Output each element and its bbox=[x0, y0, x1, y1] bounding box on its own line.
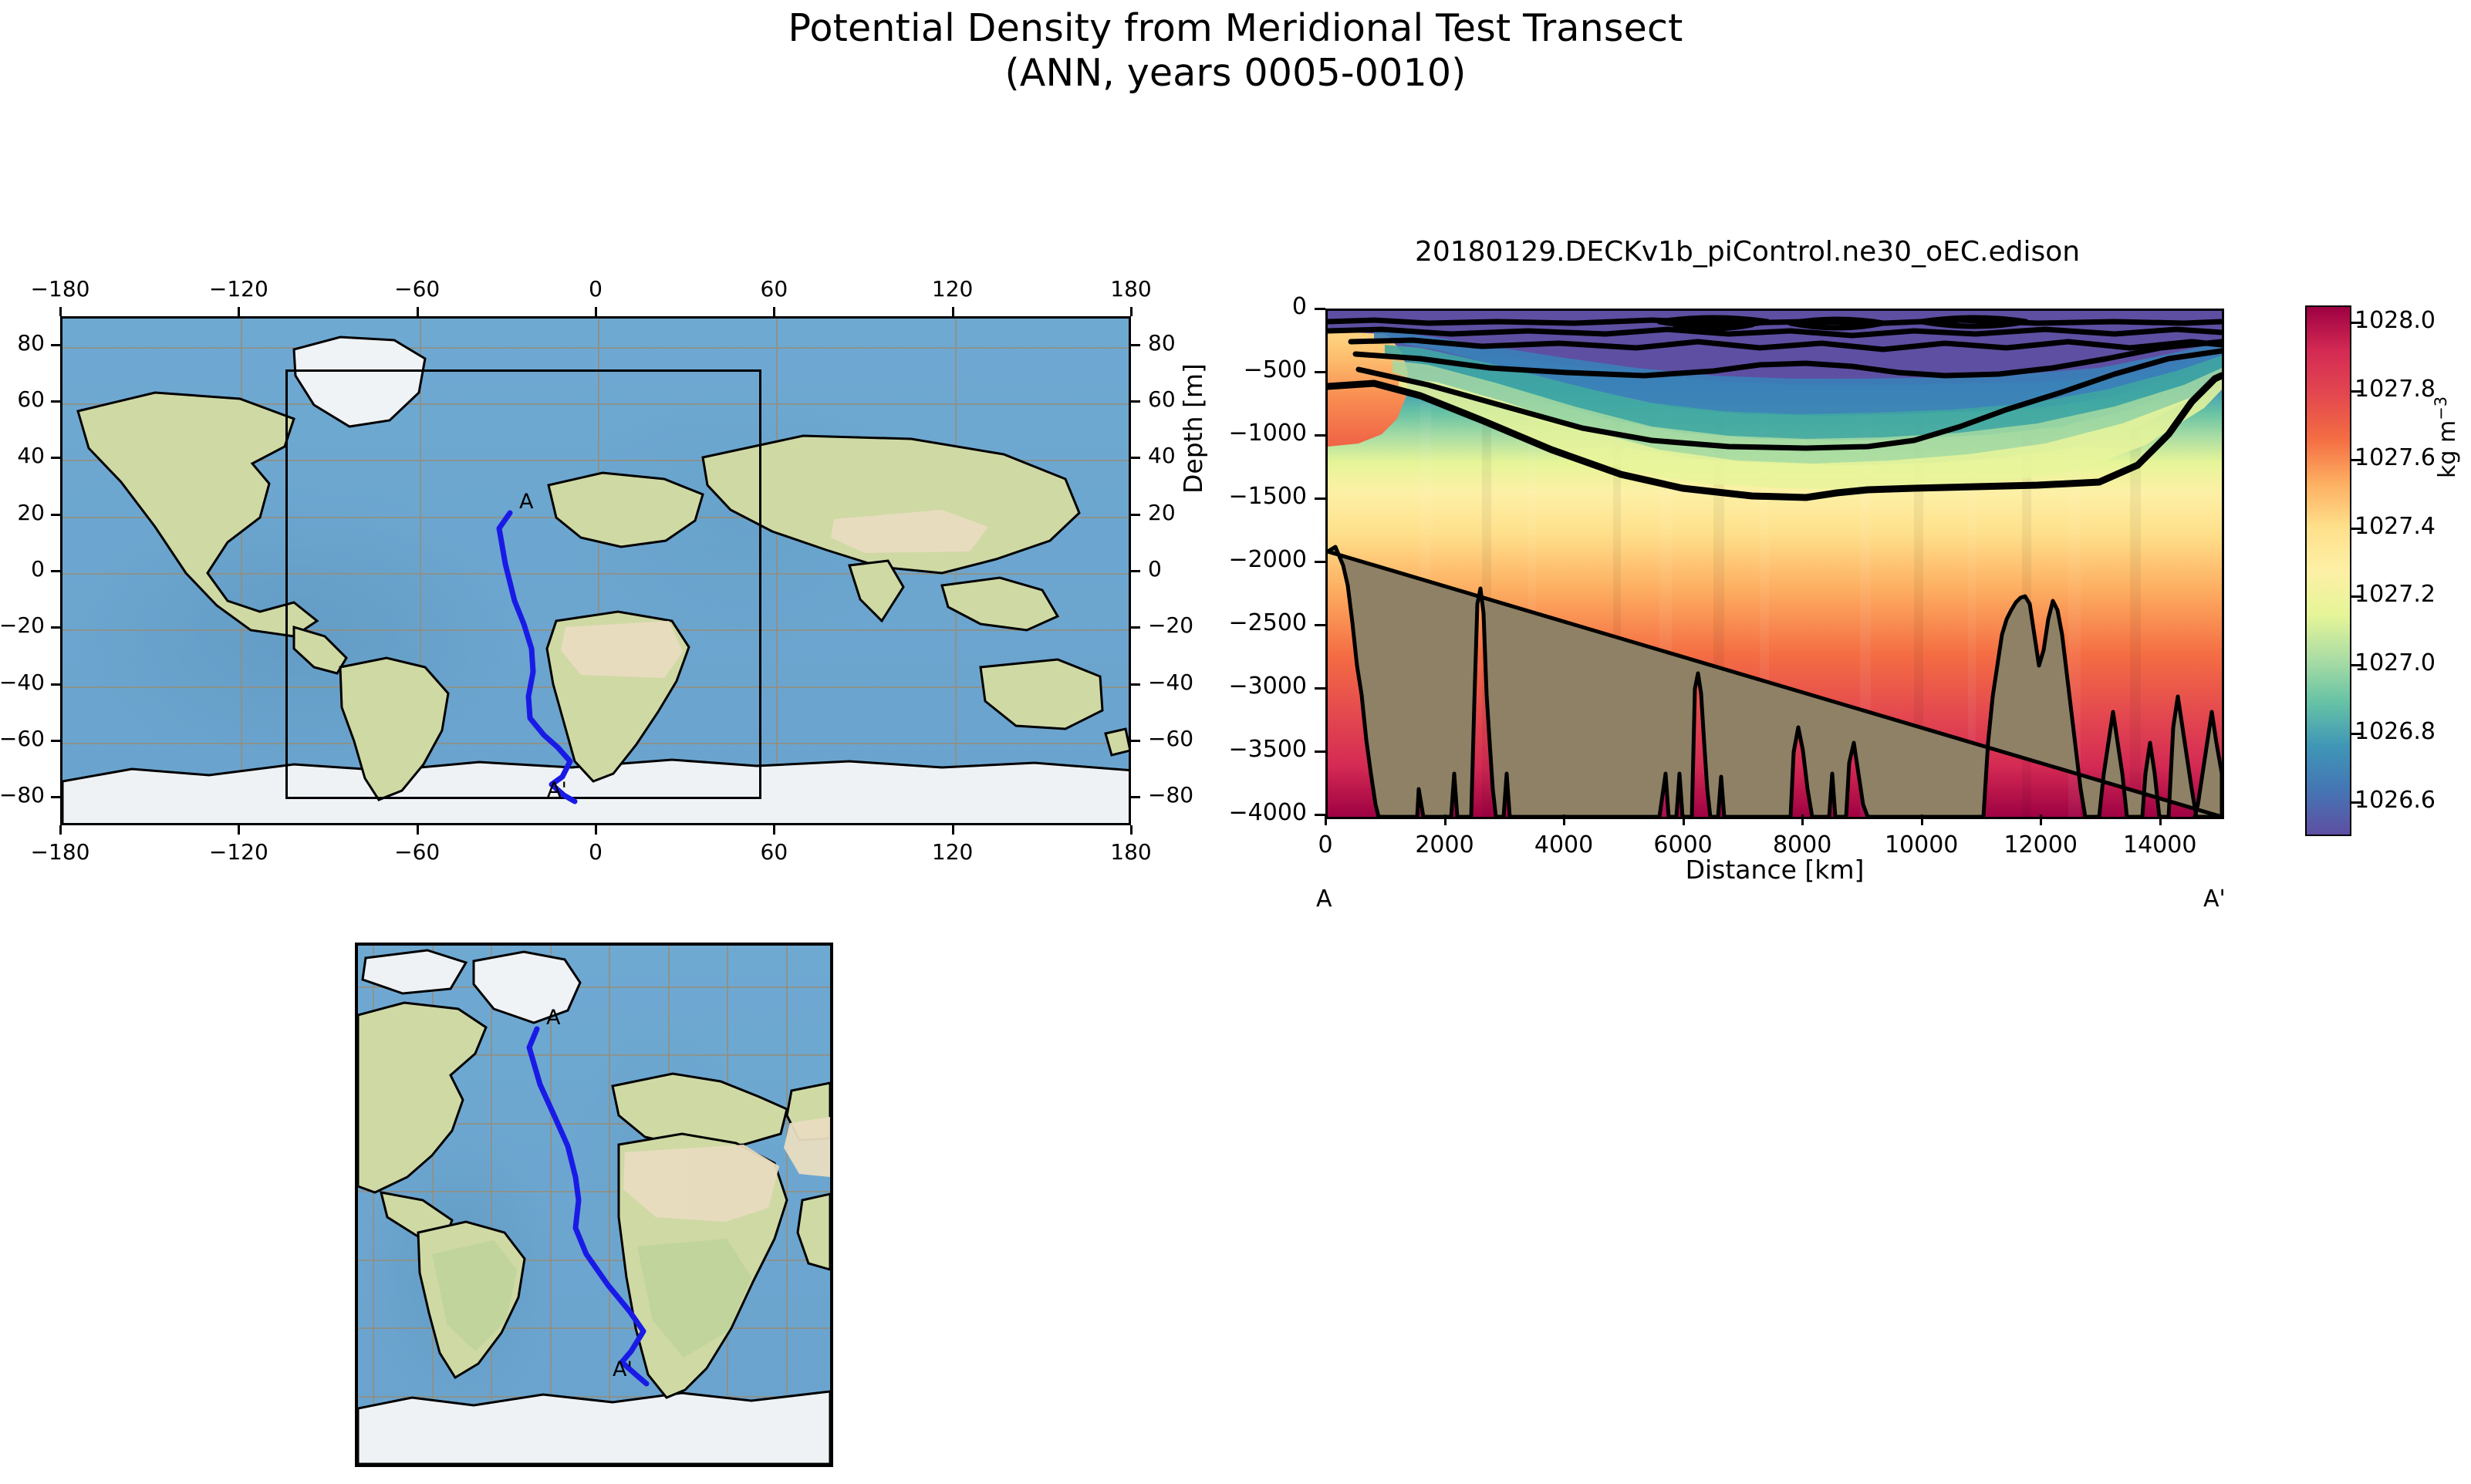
xsec-endpoint-aprime: A' bbox=[2203, 885, 2226, 912]
lon-tick-label-top: −60 bbox=[383, 276, 451, 302]
depth-tick-label: 0 bbox=[1193, 293, 1307, 320]
lon-tick-label-bottom: −60 bbox=[383, 839, 451, 865]
lat-tickmark-left bbox=[51, 514, 60, 516]
colorbar-tick-label: 1027.6 bbox=[2355, 444, 2436, 471]
lat-tickmark-right bbox=[1131, 626, 1140, 629]
lon-tick-label-bottom: −180 bbox=[26, 839, 94, 865]
lat-tickmark-right bbox=[1131, 740, 1140, 742]
figure-title-line2: (ANN, years 0005-0010) bbox=[0, 51, 2471, 96]
colorbar-tick-label: 1027.2 bbox=[2355, 581, 2436, 608]
lat-tickmark-left bbox=[51, 796, 60, 798]
lon-tick-label-bottom: 0 bbox=[562, 839, 630, 865]
distance-tickmark bbox=[1325, 815, 1327, 825]
lon-tick-label-top: 0 bbox=[562, 276, 630, 302]
colorbar[interactable] bbox=[2305, 305, 2351, 836]
colorbar-tick-label: 1027.0 bbox=[2355, 649, 2436, 676]
inset-map-canvas[interactable]: A A' bbox=[355, 943, 833, 1467]
depth-tick-label: −1000 bbox=[1193, 420, 1307, 447]
lat-tick-label-left: −80 bbox=[0, 782, 45, 808]
depth-tick-label: −2000 bbox=[1193, 546, 1307, 573]
lon-tick-label-top: 180 bbox=[1097, 276, 1165, 302]
lon-tickmark-top bbox=[773, 307, 775, 316]
lon-tickmark-bottom bbox=[595, 825, 597, 835]
distance-tickmark bbox=[1921, 815, 1923, 825]
lat-tickmark-left bbox=[51, 740, 60, 742]
lat-tickmark-left bbox=[51, 457, 60, 459]
cross-section-title: 20180129.DECKv1b_piControl.ne30_oEC.edis… bbox=[1250, 236, 2245, 268]
distance-axis-label: Distance [km] bbox=[1325, 855, 2224, 885]
colorbar-tick-label: 1027.8 bbox=[2355, 376, 2436, 403]
transect-label-a-world: A bbox=[519, 490, 533, 514]
lat-tick-label-left: −60 bbox=[0, 726, 45, 751]
transect-line-inset bbox=[358, 946, 830, 1464]
colorbar-label: kg m−3 bbox=[2432, 396, 2461, 478]
lat-tickmark-right bbox=[1131, 400, 1140, 403]
lat-tick-label-left: 40 bbox=[0, 443, 45, 468]
depth-tick-label: −2500 bbox=[1193, 609, 1307, 636]
lon-tick-label-bottom: 60 bbox=[740, 839, 808, 865]
inset-graticule-parallel bbox=[358, 1464, 830, 1465]
depth-tick-label: −4000 bbox=[1193, 799, 1307, 826]
lat-tick-label-left: 20 bbox=[0, 500, 45, 525]
lon-tickmark-top bbox=[59, 307, 62, 316]
distance-tickmark bbox=[2159, 815, 2162, 825]
lon-tick-label-top: −120 bbox=[204, 276, 272, 302]
lon-tickmark-top bbox=[952, 307, 954, 316]
transect-label-aprime-inset: A' bbox=[613, 1358, 633, 1381]
depth-tickmark bbox=[1315, 308, 1325, 310]
colorbar-tick-label: 1026.6 bbox=[2355, 787, 2436, 814]
lat-tickmark-right bbox=[1131, 457, 1140, 459]
depth-tickmark bbox=[1315, 687, 1325, 690]
depth-tick-label: −3500 bbox=[1193, 736, 1307, 763]
colorbar-unit-text: kg m bbox=[2434, 420, 2461, 478]
inset-map-panel[interactable]: A A' bbox=[355, 943, 833, 1467]
figure-title-line1: Potential Density from Meridional Test T… bbox=[0, 6, 2471, 51]
depth-tickmark bbox=[1315, 750, 1325, 753]
cross-section-panel[interactable]: 020004000600080001000012000140000−500−10… bbox=[1325, 309, 2224, 819]
depth-tick-label: −500 bbox=[1193, 356, 1307, 383]
depth-tickmark bbox=[1315, 497, 1325, 500]
lat-tick-label-right: 80 bbox=[1148, 330, 1214, 356]
lat-tickmark-left bbox=[51, 344, 60, 346]
cross-section-canvas[interactable] bbox=[1325, 309, 2224, 819]
lon-tick-label-bottom: 120 bbox=[919, 839, 987, 865]
colorbar-tick-label: 1026.8 bbox=[2355, 718, 2436, 745]
lon-tickmark-top bbox=[595, 307, 597, 316]
lon-tickmark-top bbox=[417, 307, 419, 316]
lat-tick-label-left: −20 bbox=[0, 612, 45, 638]
xsec-endpoint-a: A bbox=[1316, 885, 1332, 912]
lon-tick-label-top: 120 bbox=[919, 276, 987, 302]
world-map-canvas[interactable]: A A' bbox=[60, 316, 1131, 825]
depth-tickmark bbox=[1315, 371, 1325, 373]
distance-tickmark bbox=[2040, 815, 2042, 825]
lon-tickmark-bottom bbox=[238, 825, 240, 835]
depth-tick-label: −1500 bbox=[1193, 483, 1307, 510]
lon-tickmark-bottom bbox=[417, 825, 419, 835]
transect-label-aprime-world: A' bbox=[547, 778, 567, 802]
lat-tickmark-right bbox=[1131, 683, 1140, 686]
world-map-panel[interactable]: A A' −180−180−120−120−60−600060601201201… bbox=[60, 316, 1131, 825]
lat-tick-label-left: 60 bbox=[0, 386, 45, 412]
colorbar-tick-label: 1027.4 bbox=[2355, 513, 2436, 540]
lat-tickmark-left bbox=[51, 683, 60, 686]
distance-tickmark bbox=[1563, 815, 1565, 825]
lat-tickmark-left bbox=[51, 626, 60, 629]
lon-tick-label-top: −180 bbox=[26, 276, 94, 302]
lat-tickmark-left bbox=[51, 400, 60, 403]
lon-tick-label-bottom: −120 bbox=[204, 839, 272, 865]
depth-tickmark bbox=[1315, 814, 1325, 816]
lat-tick-label-left: −40 bbox=[0, 669, 45, 695]
lat-tick-label-left: 0 bbox=[0, 556, 45, 582]
lon-tickmark-bottom bbox=[952, 825, 954, 835]
colorbar-tick-label: 1028.0 bbox=[2355, 307, 2436, 334]
transect-label-a-inset: A bbox=[546, 1006, 560, 1030]
depth-tickmark bbox=[1315, 561, 1325, 563]
depth-tick-label: −3000 bbox=[1193, 673, 1307, 700]
lat-tickmark-right bbox=[1131, 570, 1140, 572]
lon-tickmark-top bbox=[238, 307, 240, 316]
lon-tick-label-bottom: 180 bbox=[1097, 839, 1165, 865]
lon-tickmark-bottom bbox=[1130, 825, 1133, 835]
depth-tickmark bbox=[1315, 434, 1325, 437]
transect-line-world bbox=[62, 319, 1131, 825]
lat-tickmark-right bbox=[1131, 344, 1140, 346]
distance-tickmark bbox=[1683, 815, 1685, 825]
density-field bbox=[1328, 311, 2222, 817]
lat-tick-label-left: 80 bbox=[0, 330, 45, 356]
depth-tickmark bbox=[1315, 624, 1325, 626]
figure-title: Potential Density from Meridional Test T… bbox=[0, 6, 2471, 96]
lat-tickmark-right bbox=[1131, 796, 1140, 798]
lon-tickmark-top bbox=[1130, 307, 1133, 316]
lon-tickmark-bottom bbox=[773, 825, 775, 835]
lat-tickmark-right bbox=[1131, 514, 1140, 516]
lon-tickmark-bottom bbox=[59, 825, 62, 835]
distance-tickmark bbox=[1801, 815, 1804, 825]
lon-tick-label-top: 60 bbox=[740, 276, 808, 302]
lat-tickmark-left bbox=[51, 570, 60, 572]
distance-tickmark bbox=[1444, 815, 1446, 825]
